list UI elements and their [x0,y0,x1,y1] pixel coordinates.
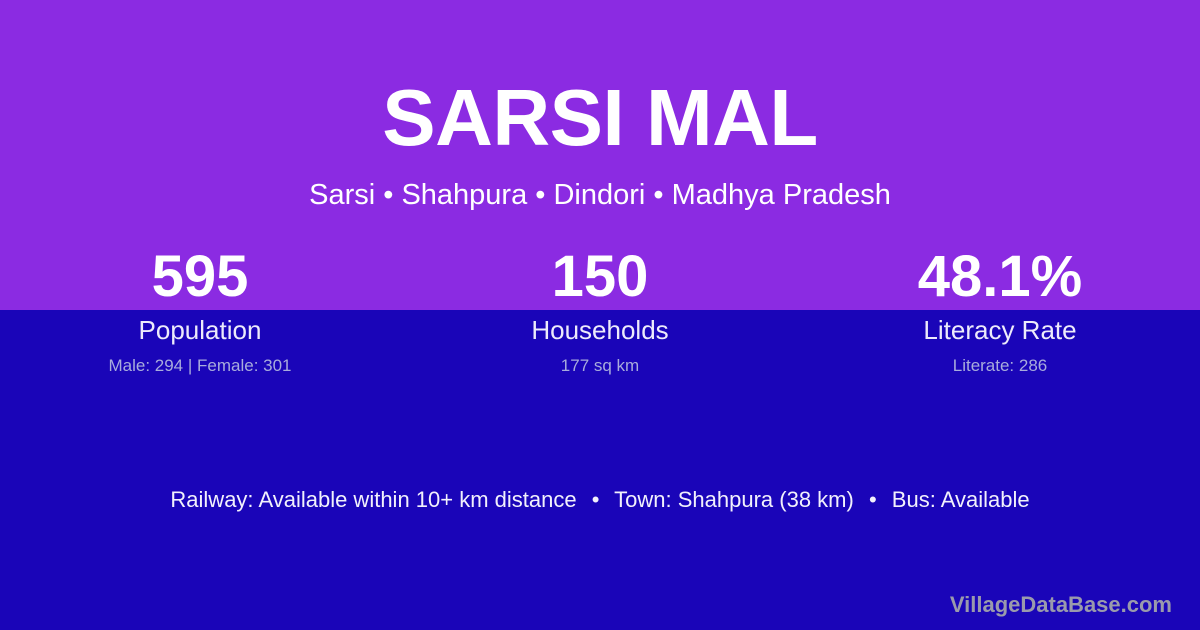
page-title: SARSI MAL [0,78,1200,158]
stat-literacy-value: 48.1% [800,248,1200,310]
amenity-town: Town: Shahpura (38 km) [614,487,854,512]
stat-households-value: 150 [400,248,800,310]
stat-households: 150 Households 177 sq km [400,248,800,375]
stat-literacy: 48.1% Literacy Rate Literate: 286 [800,248,1200,375]
stat-population-sub: Male: 294 | Female: 301 [0,357,400,376]
stat-population-label: Population [0,316,400,345]
amenity-bus: Bus: Available [892,487,1030,512]
site-brand: VillageDataBase.com [950,592,1172,618]
amenity-separator-1: • [583,486,609,515]
amenity-railway: Railway: Available within 10+ km distanc… [170,487,576,512]
stat-population: 595 Population Male: 294 | Female: 301 [0,248,400,375]
breadcrumb: Sarsi • Shahpura • Dindori • Madhya Prad… [0,180,1200,212]
stat-households-sub: 177 sq km [400,357,800,376]
stat-population-value: 595 [0,248,400,310]
stat-households-label: Households [400,316,800,345]
stat-literacy-label: Literacy Rate [800,316,1200,345]
title-block: SARSI MAL Sarsi • Shahpura • Dindori • M… [0,78,1200,212]
village-info-card: SARSI MAL Sarsi • Shahpura • Dindori • M… [0,0,1200,630]
stats-row: 595 Population Male: 294 | Female: 301 1… [0,248,1200,375]
amenities-row: Railway: Available within 10+ km distanc… [0,486,1200,515]
stat-literacy-sub: Literate: 286 [800,357,1200,376]
amenity-separator-2: • [860,486,886,515]
